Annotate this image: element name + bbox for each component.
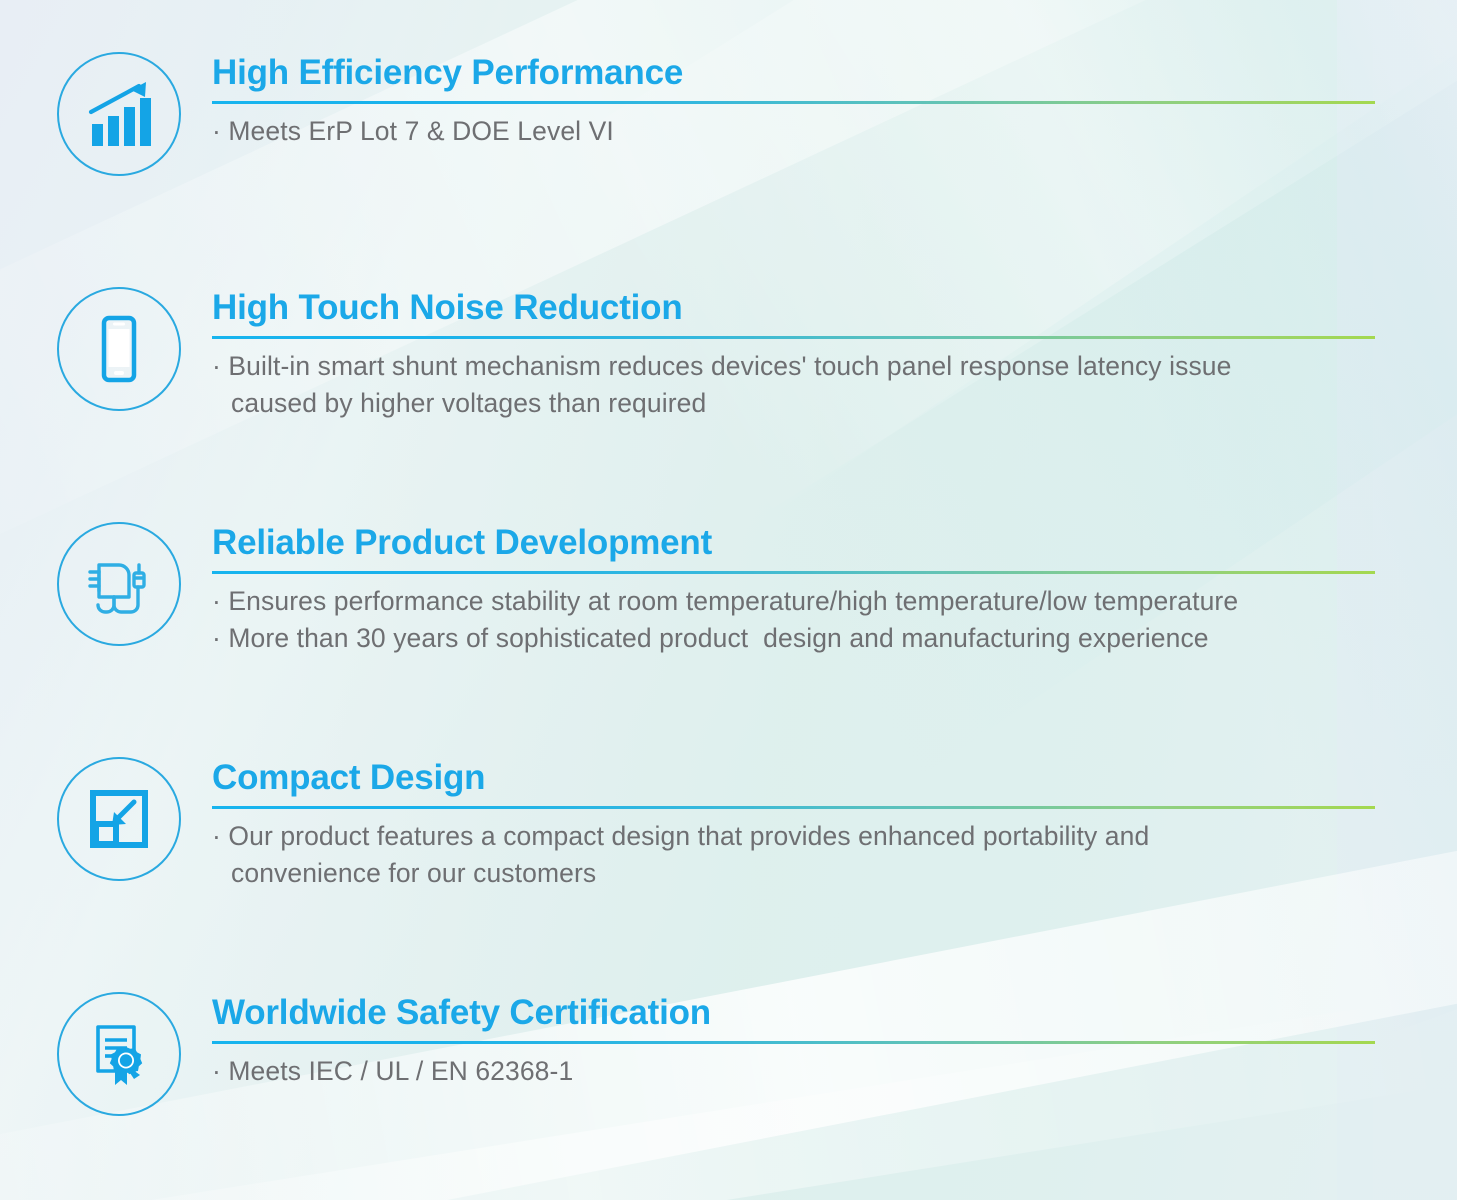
feature-description: · Built-in smart shunt mechanism reduces… [212, 348, 1375, 422]
feature-divider [212, 1041, 1375, 1044]
feature-title: Reliable Product Development [212, 522, 1375, 564]
feature-description: · Our product features a compact design … [212, 818, 1375, 892]
bar-chart-growth-icon [57, 52, 181, 176]
feature-body: Worldwide Safety Certification · Meets I… [212, 992, 1375, 1090]
feature-bullet-line: · Meets IEC / UL / EN 62368-1 [212, 1053, 1375, 1090]
feature-description: · Ensures performance stability at room … [212, 583, 1375, 657]
smartphone-icon [57, 287, 181, 411]
feature-body: High Efficiency Performance · Meets ErP … [212, 52, 1375, 150]
feature-divider [212, 101, 1375, 104]
feature-list-slide: High Efficiency Performance · Meets ErP … [0, 0, 1457, 1200]
feature-bullet-line: · Our product features a compact design … [212, 818, 1375, 855]
feature-bullet-line: · Ensures performance stability at room … [212, 583, 1375, 620]
feature-divider [212, 806, 1375, 809]
feature-bullet-line: · More than 30 years of sophisticated pr… [212, 620, 1375, 657]
feature-divider [212, 336, 1375, 339]
feature-body: Reliable Product Development · Ensures p… [212, 522, 1375, 657]
power-adapter-icon [57, 522, 181, 646]
feature-icon-wrap [57, 287, 181, 411]
feature-icon-wrap [57, 52, 181, 176]
feature-title: High Efficiency Performance [212, 52, 1375, 94]
feature-title: High Touch Noise Reduction [212, 287, 1375, 329]
feature-divider [212, 571, 1375, 574]
feature-title: Compact Design [212, 757, 1375, 799]
certificate-seal-icon [57, 992, 181, 1116]
feature-title: Worldwide Safety Certification [212, 992, 1375, 1034]
feature-bullet-line-continued: caused by higher voltages than required [212, 385, 1375, 422]
feature-body: Compact Design · Our product features a … [212, 757, 1375, 892]
feature-bullet-line: · Meets ErP Lot 7 & DOE Level VI [212, 113, 1375, 150]
feature-icon-wrap [57, 992, 181, 1116]
feature-description: · Meets IEC / UL / EN 62368-1 [212, 1053, 1375, 1090]
feature-bullet-line: · Built-in smart shunt mechanism reduces… [212, 348, 1375, 385]
feature-bullet-line-continued: convenience for our customers [212, 855, 1375, 892]
feature-body: High Touch Noise Reduction · Built-in sm… [212, 287, 1375, 422]
compact-resize-icon [57, 757, 181, 881]
feature-icon-wrap [57, 757, 181, 881]
feature-description: · Meets ErP Lot 7 & DOE Level VI [212, 113, 1375, 150]
feature-list: High Efficiency Performance · Meets ErP … [0, 0, 1457, 1200]
feature-icon-wrap [57, 522, 181, 646]
